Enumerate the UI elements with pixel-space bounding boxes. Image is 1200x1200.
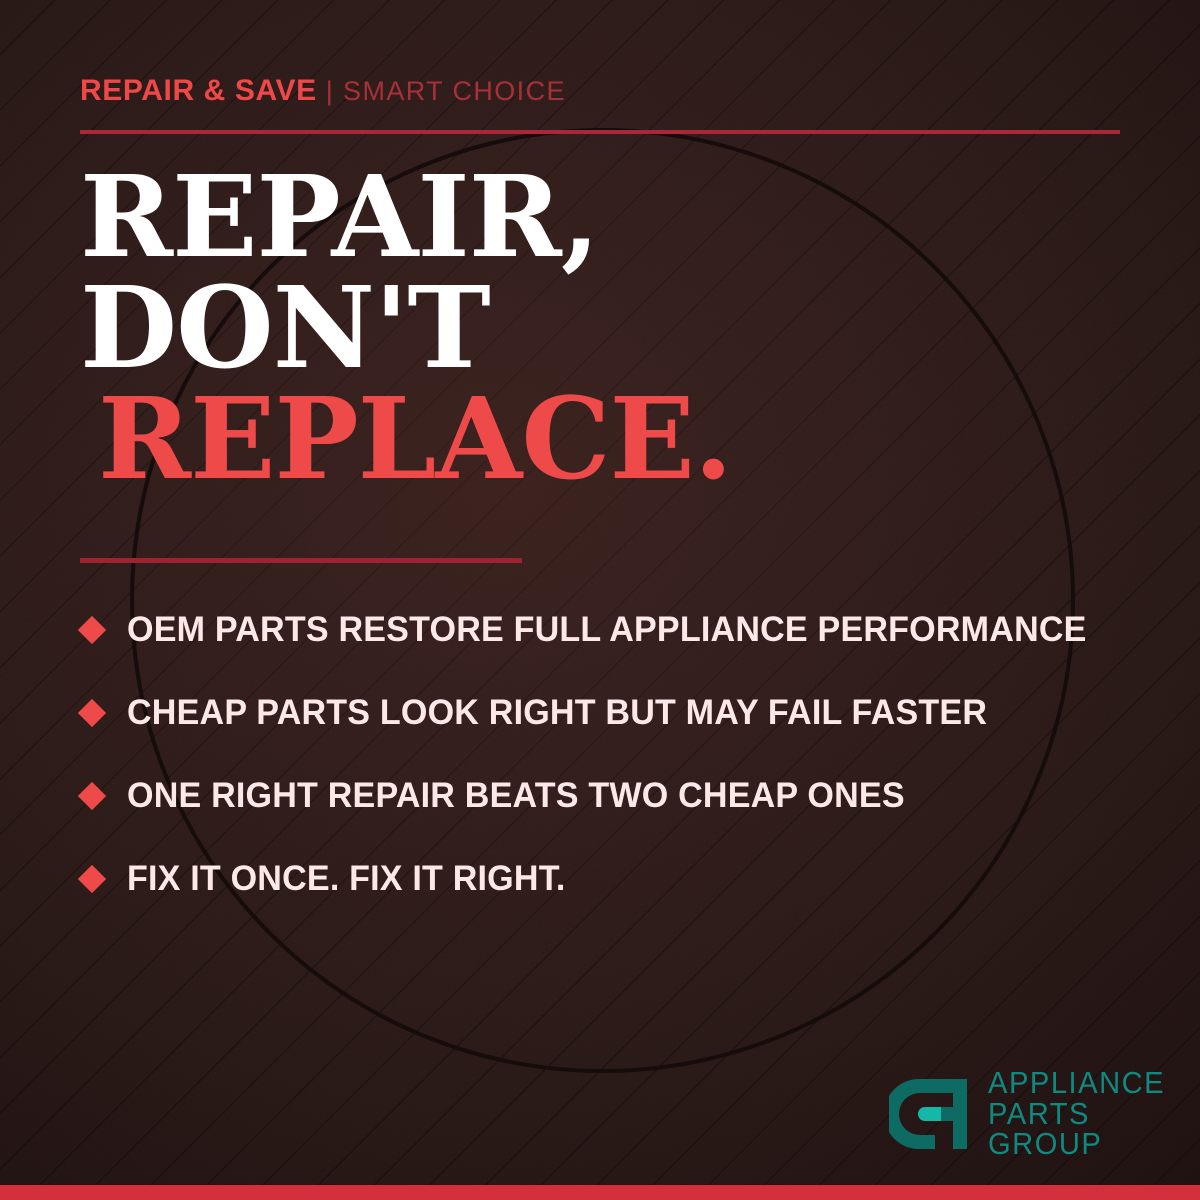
headline-line-2: DON'T <box>80 274 732 385</box>
brand-logo-line-3: GROUP <box>988 1129 1165 1160</box>
diamond-bullet-icon <box>78 781 106 809</box>
brand-logo: APPLIANCE PARTS GROUP <box>889 1068 1176 1160</box>
poster-canvas: REPAIR & SAVE| SMART CHOICE REPAIR, DON'… <box>0 0 1200 1200</box>
eyebrow-header: REPAIR & SAVE| SMART CHOICE <box>80 76 566 106</box>
bottom-accent-bar <box>0 1185 1200 1200</box>
diamond-bullet-icon <box>78 615 106 643</box>
list-item: OEM PARTS RESTORE FULL APPLIANCE PERFORM… <box>80 588 1150 671</box>
headline-divider-rule <box>80 558 522 563</box>
list-item-label: FIX IT ONCE. FIX IT RIGHT. <box>127 858 566 899</box>
appliance-parts-group-g-icon <box>889 1071 975 1157</box>
header-divider-rule <box>80 130 1120 134</box>
eyebrow-sub-label: | SMART CHOICE <box>326 76 566 106</box>
brand-logo-line-2: PARTS <box>988 1099 1165 1130</box>
list-item-label: OEM PARTS RESTORE FULL APPLIANCE PERFORM… <box>127 609 1087 650</box>
benefit-list: OEM PARTS RESTORE FULL APPLIANCE PERFORM… <box>80 588 1150 920</box>
diamond-bullet-icon <box>78 864 106 892</box>
headline-line-3: REPLACE. <box>80 385 732 496</box>
list-item: FIX IT ONCE. FIX IT RIGHT. <box>80 837 1150 920</box>
headline-line-1: REPAIR, <box>80 163 732 274</box>
eyebrow-main-label: REPAIR & SAVE <box>80 74 317 107</box>
list-item-label: ONE RIGHT REPAIR BEATS TWO CHEAP ONES <box>127 775 905 816</box>
brand-logo-line-1: APPLIANCE <box>988 1068 1165 1099</box>
headline: REPAIR, DON'T REPLACE. <box>80 163 732 496</box>
list-item-label: CHEAP PARTS LOOK RIGHT BUT MAY FAIL FAST… <box>127 692 987 733</box>
diamond-bullet-icon <box>78 698 106 726</box>
list-item: ONE RIGHT REPAIR BEATS TWO CHEAP ONES <box>80 754 1150 837</box>
list-item: CHEAP PARTS LOOK RIGHT BUT MAY FAIL FAST… <box>80 671 1150 754</box>
brand-logo-wordmark: APPLIANCE PARTS GROUP <box>988 1068 1176 1160</box>
